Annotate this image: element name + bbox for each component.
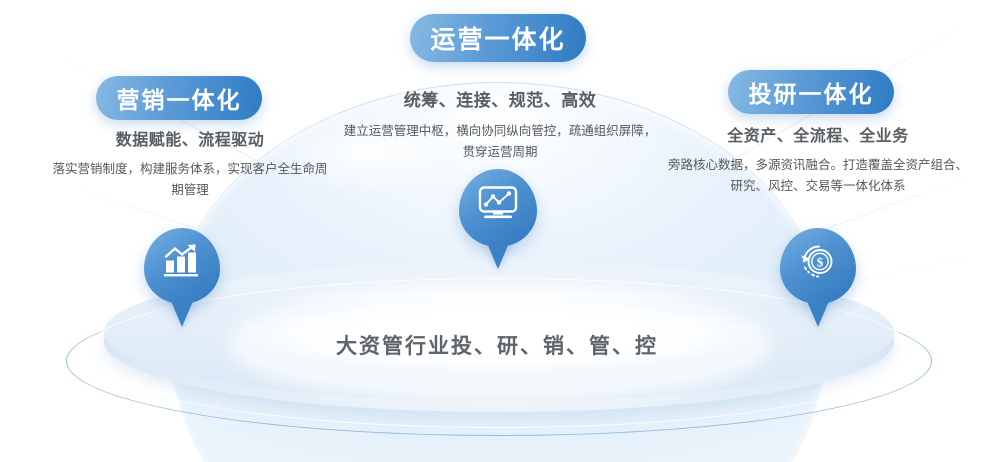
badge-operations[interactable]: 运营一体化 <box>410 14 586 62</box>
badge-marketing-label: 营销一体化 <box>117 81 242 115</box>
column-marketing-heading: 数据赋能、流程驱动 <box>52 126 328 150</box>
pin-operations[interactable] <box>459 169 537 247</box>
column-operations-heading: 统筹、连接、规范、高效 <box>338 86 662 111</box>
dollar-refresh-icon: $ <box>798 240 838 285</box>
column-research-body: 旁路核心数据，多源资讯融合。打造覆盖全资产组合、研究、风控、交易等一体化体系 <box>668 155 968 197</box>
column-operations-body: 建立运营管理中枢，横向协同纵向管控，疏通组织屏障，贯穿运营周期 <box>338 121 662 163</box>
column-research-heading: 全资产、全流程、全业务 <box>668 122 968 146</box>
center-title: 大资管行业投、研、销、管、控 <box>297 330 697 360</box>
column-marketing-body: 落实营销制度，构建服务体系，实现客户全生命周期管理 <box>52 159 328 201</box>
column-research: 全资产、全流程、全业务 旁路核心数据，多源资讯融合。打造覆盖全资产组合、研究、风… <box>668 122 968 197</box>
badge-marketing[interactable]: 营销一体化 <box>96 76 262 120</box>
column-marketing: 数据赋能、流程驱动 落实营销制度，构建服务体系，实现客户全生命周期管理 <box>52 126 328 201</box>
pin-marketing[interactable] <box>144 228 220 304</box>
svg-text:$: $ <box>817 254 824 269</box>
pin-research[interactable]: $ <box>780 228 856 304</box>
column-operations: 统筹、连接、规范、高效 建立运营管理中枢，横向协同纵向管控，疏通组织屏障，贯穿运… <box>338 86 662 163</box>
badge-research[interactable]: 投研一体化 <box>728 70 894 114</box>
badge-operations-label: 运营一体化 <box>430 20 565 56</box>
screen-chart-icon <box>478 185 518 224</box>
infographic-canvas: 运营一体化 营销一体化 投研一体化 数据赋能、流程驱动 落实营销制度，构建服务体… <box>0 0 995 462</box>
bar-chart-growth-icon <box>163 243 201 282</box>
badge-research-label: 投研一体化 <box>749 75 874 109</box>
